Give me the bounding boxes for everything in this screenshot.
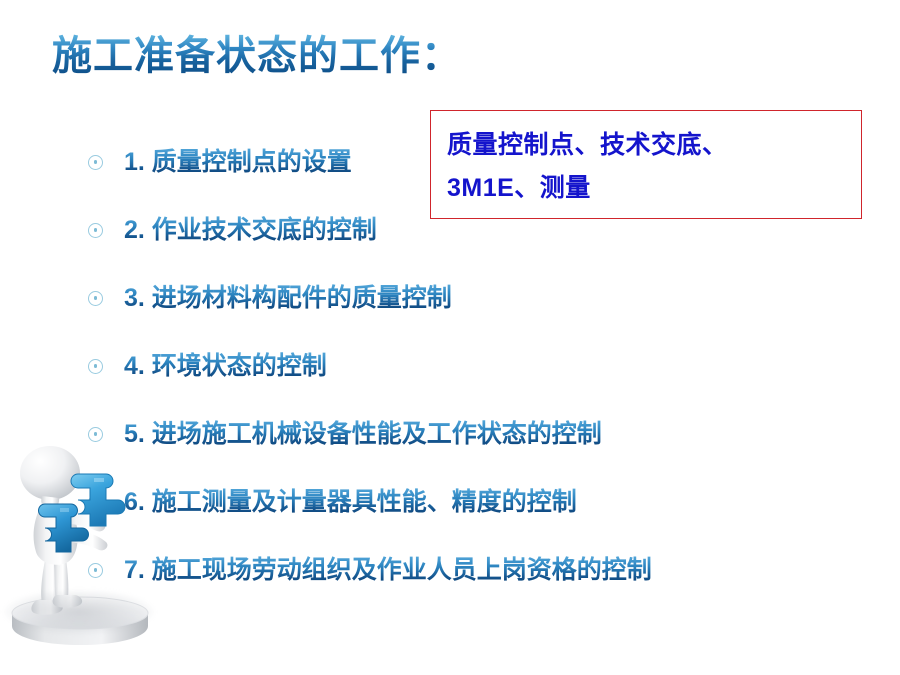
list-item[interactable]: 3. 进场材料构配件的质量控制 [88,264,878,332]
list-item-label: 7. 施工现场劳动组织及作业人员上岗资格的控制 [124,556,652,585]
callout-line-2: 3M1E、测量 [447,168,591,204]
list-item[interactable]: 5. 进场施工机械设备性能及工作状态的控制 [88,400,878,468]
circle-dot-bullet-icon [88,495,103,510]
pedestal [12,597,148,645]
page-title: 施工准备状态的工作： [52,34,462,78]
circle-dot-bullet-icon [88,427,103,442]
mannequin-head [20,446,80,509]
list-item-label: 6. 施工测量及计量器具性能、精度的控制 [124,488,577,517]
callout-box: 质量控制点、技术交底、 3M1E、测量 [430,110,862,219]
list-item[interactable]: 6. 施工测量及计量器具性能、精度的控制 [88,468,878,536]
circle-dot-bullet-icon [88,291,103,306]
list-item[interactable]: 4. 环境状态的控制 [88,332,878,400]
callout-line-1: 质量控制点、技术交底、 [447,125,728,161]
circle-dot-bullet-icon [88,359,103,374]
list-item-label: 5. 进场施工机械设备性能及工作状态的控制 [124,420,602,449]
list-item-label: 1. 质量控制点的设置 [124,148,352,177]
list-item[interactable]: 7. 施工现场劳动组织及作业人员上岗资格的控制 [88,536,878,604]
mannequin-legs [31,558,82,615]
circle-dot-bullet-icon [88,155,103,170]
circle-dot-bullet-icon [88,223,103,238]
list-item-label: 2. 作业技术交底的控制 [124,216,377,245]
slide-canvas: 施工准备状态的工作： 1. 质量控制点的设置 2. 作业技术交底的控制 3. 进… [0,0,900,675]
list-item-label: 3. 进场材料构配件的质量控制 [124,284,452,313]
circle-dot-bullet-icon [88,563,103,578]
list-item-label: 4. 环境状态的控制 [124,352,327,381]
mannequin-torso [34,499,78,565]
